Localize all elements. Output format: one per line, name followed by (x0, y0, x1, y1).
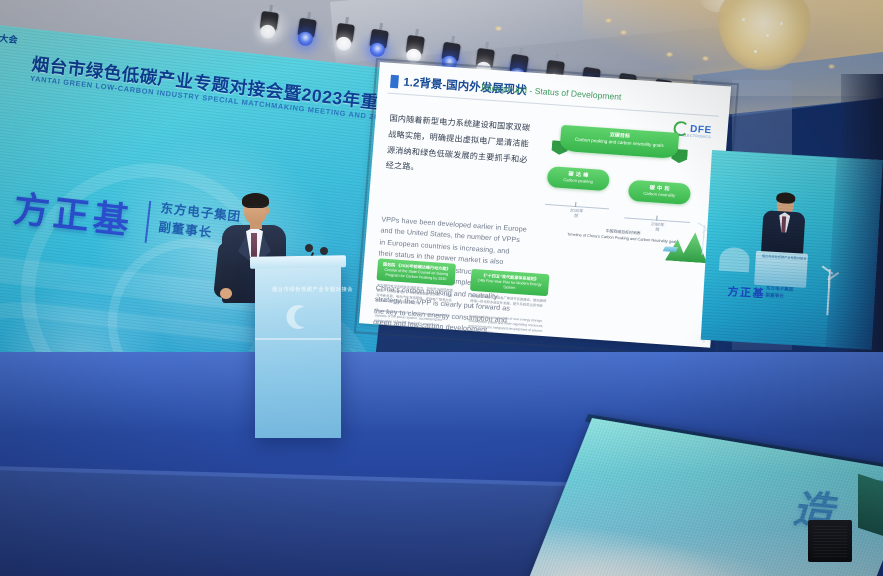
video-speaker-head (776, 194, 794, 215)
video-speaker-organization: 东方电子集团 (766, 285, 794, 292)
slide-screen-bezel (354, 58, 739, 359)
ceiling-downlight (605, 18, 612, 23)
video-podium (754, 251, 808, 288)
speaker-hand (220, 288, 232, 299)
stage-speaker-box (808, 520, 852, 562)
ceiling-downlight (666, 52, 673, 57)
podium-stripe (255, 338, 341, 340)
microphone-head (320, 247, 328, 255)
podium-top (250, 255, 346, 269)
speaker-glasses (248, 206, 266, 212)
banner-title-en: YANTAI GREEN LOW-CARBON INDUSTRY SPECIAL… (30, 74, 408, 128)
stage-floor-sheen (0, 352, 883, 432)
video-speaker-name: 方正基 (727, 283, 765, 301)
chandelier-sparkle (754, 50, 757, 53)
led-floor-clouds (528, 510, 802, 576)
speaker-divider (145, 201, 152, 243)
microphone-head (305, 244, 313, 252)
ceiling-downlight (828, 64, 835, 69)
chandelier-sparkle (742, 18, 745, 21)
chandelier-sparkle (780, 22, 783, 25)
video-speaker-org-title: 东方电子集团副董事长 (765, 285, 793, 300)
video-speaker-position: 副董事长 (765, 292, 784, 298)
video-speaker-suit (761, 210, 806, 258)
speaker-tie (251, 233, 257, 259)
video-speaker-hair (776, 192, 796, 204)
podium-label: 烟台市绿色低碳产业专题对接会 (272, 286, 353, 293)
led-floor-side (858, 474, 883, 536)
chandelier-sparkle (766, 34, 769, 37)
podium-logo-icon (278, 300, 314, 334)
video-speaker-shirt (778, 212, 790, 233)
ceiling-downlight (495, 26, 502, 31)
ceiling-downlight (620, 30, 627, 35)
speaker-name: 方正基 (11, 180, 136, 245)
ceiling-downlight (702, 56, 709, 61)
conference-stage-photo: 发展大会 烟台市绿色低碳产业专题对接会暨2023年重点招商项目签约仪式 YANT… (0, 0, 883, 576)
banner-corner-text: 发展大会 (0, 29, 19, 46)
secondary-video-screen: 烟台市绿色低碳产业专题对接会 方正基 东方电子集团副董事长 (701, 150, 883, 350)
video-speaker-tie (781, 216, 786, 232)
video-podium-label: 烟台市绿色低碳产业专题对接会 (762, 253, 807, 261)
speaker-position: 副董事长 (158, 220, 213, 240)
video-speaker-figure (761, 193, 807, 257)
